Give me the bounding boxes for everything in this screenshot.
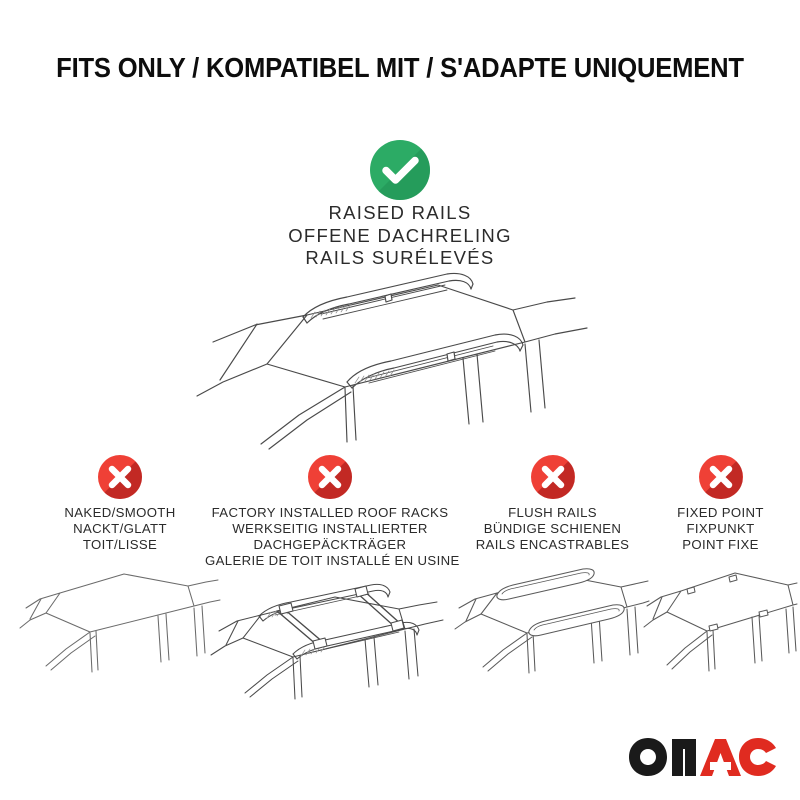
- car-roof-with-fixed-points-illustration: [643, 555, 798, 695]
- compatible-label-line: RAILS SURÉLEVÉS: [150, 247, 650, 270]
- x-mark-icon: [531, 455, 575, 499]
- car-roof-with-factory-crossbars-illustration: [205, 575, 455, 715]
- incompatible-labels: FACTORY INSTALLED ROOF RACKS WERKSEITIG …: [205, 505, 455, 569]
- incompatible-label-line: WERKSEITIG INSTALLIERTER: [205, 521, 455, 537]
- check-mark-icon: [370, 140, 430, 200]
- incompatible-label-line: BÜNDIGE SCHIENEN: [455, 521, 650, 537]
- car-roof-naked-smooth-illustration: [18, 560, 222, 690]
- compatible-label-line: OFFENE DACHRELING: [150, 225, 650, 248]
- x-circle-icon: [308, 455, 352, 499]
- incompatible-label-line: GALERIE DE TOIT INSTALLÉ EN USINE: [205, 553, 455, 569]
- compatible-labels: RAISED RAILS OFFENE DACHRELING RAILS SUR…: [150, 202, 650, 270]
- incompatible-label-line: RAILS ENCASTRABLES: [455, 537, 650, 553]
- incompatible-labels: NAKED/SMOOTH NACKT/GLATT TOIT/LISSE: [18, 505, 222, 553]
- incompatible-label-line: FACTORY INSTALLED ROOF RACKS: [205, 505, 455, 521]
- page-title: FITS ONLY / KOMPATIBEL MIT / S'ADAPTE UN…: [28, 52, 772, 84]
- incompatible-label-line: NAKED/SMOOTH: [18, 505, 222, 521]
- x-mark-icon: [98, 455, 142, 499]
- incompatible-label-line: DACHGEPÄCKTRÄGER: [205, 537, 455, 553]
- x-circle-icon: [699, 455, 743, 499]
- check-circle-icon: [370, 140, 430, 200]
- incompatible-labels: FIXED POINT FIXPUNKT POINT FIXE: [643, 505, 798, 553]
- car-roof-with-flush-rails-illustration: [455, 555, 650, 695]
- incompatible-label-line: TOIT/LISSE: [18, 537, 222, 553]
- x-circle-icon: [531, 455, 575, 499]
- compatible-label-line: RAISED RAILS: [150, 202, 650, 225]
- car-roof-with-raised-rails-illustration: [195, 272, 605, 452]
- incompatible-label-line: FIXED POINT: [643, 505, 798, 521]
- incompatible-label-line: POINT FIXE: [643, 537, 798, 553]
- x-circle-icon: [98, 455, 142, 499]
- x-mark-icon: [699, 455, 743, 499]
- incompatible-label-line: NACKT/GLATT: [18, 521, 222, 537]
- incompatible-label-line: FIXPUNKT: [643, 521, 798, 537]
- omac-logo-mark: [628, 736, 778, 778]
- incompatible-label-line: FLUSH RAILS: [455, 505, 650, 521]
- incompatible-labels: FLUSH RAILS BÜNDIGE SCHIENEN RAILS ENCAS…: [455, 505, 650, 553]
- omac-logo: [628, 736, 778, 778]
- compatibility-infographic: FITS ONLY / KOMPATIBEL MIT / S'ADAPTE UN…: [0, 0, 800, 800]
- x-mark-icon: [308, 455, 352, 499]
